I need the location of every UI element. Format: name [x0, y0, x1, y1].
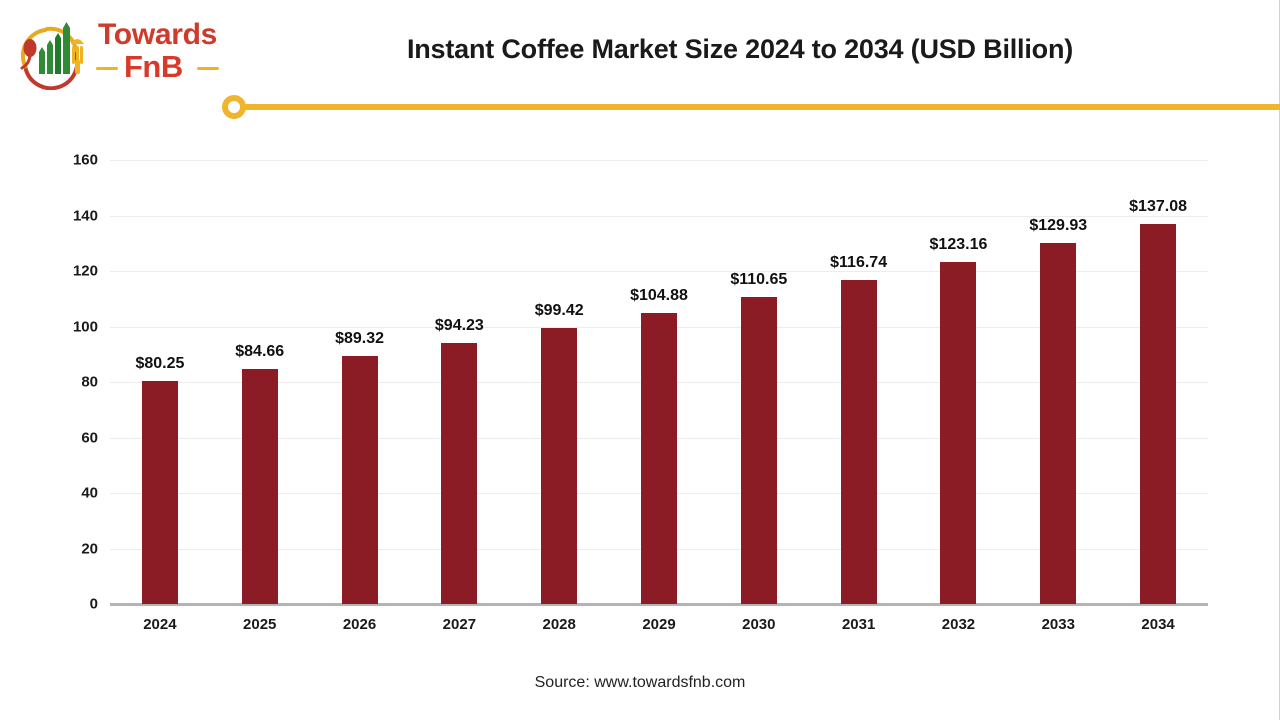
x-axis-tick-label: 2032 — [908, 616, 1008, 633]
bar-group[interactable]: $80.25 — [110, 160, 210, 604]
x-axis-tick-label: 2031 — [809, 616, 909, 633]
x-axis-tick-label: 2027 — [409, 616, 509, 633]
bar[interactable] — [242, 369, 278, 604]
chart-page: Towards FnB Instant Coffee Market Size 2… — [0, 0, 1280, 720]
bar-value-label: $110.65 — [699, 271, 819, 289]
bar-value-label: $123.16 — [898, 236, 1018, 254]
bar[interactable] — [1040, 243, 1076, 604]
y-axis-tick-label: 0 — [28, 596, 98, 613]
bar[interactable] — [342, 356, 378, 604]
bar[interactable] — [641, 313, 677, 604]
y-axis-tick-label: 60 — [28, 429, 98, 446]
x-axis-tick-label: 2028 — [509, 616, 609, 633]
y-axis-tick-label: 140 — [28, 207, 98, 224]
bar-group[interactable]: $84.66 — [210, 160, 310, 604]
bar-chart: 020406080100120140160 $80.25$84.66$89.32… — [0, 0, 1280, 720]
x-axis-tick-label: 2025 — [210, 616, 310, 633]
x-axis-tick-label: 2024 — [110, 616, 210, 633]
bar-value-label: $129.93 — [998, 217, 1118, 235]
bar[interactable] — [1140, 224, 1176, 604]
y-axis-tick-label: 80 — [28, 374, 98, 391]
bar-group[interactable]: $137.08 — [1108, 160, 1208, 604]
bar-group[interactable]: $116.74 — [809, 160, 909, 604]
bar[interactable] — [741, 297, 777, 604]
x-axis-tick-label: 2030 — [709, 616, 809, 633]
bar[interactable] — [541, 328, 577, 604]
x-axis-tick-label: 2029 — [609, 616, 709, 633]
bar[interactable] — [841, 280, 877, 604]
bar-group[interactable]: $129.93 — [1008, 160, 1108, 604]
bar-value-label: $116.74 — [799, 254, 919, 272]
bar-group[interactable]: $89.32 — [310, 160, 410, 604]
chart-bars: $80.25$84.66$89.32$94.23$99.42$104.88$11… — [110, 160, 1208, 604]
y-axis-tick-label: 40 — [28, 485, 98, 502]
bar-group[interactable]: $99.42 — [509, 160, 609, 604]
y-axis-tick-label: 100 — [28, 318, 98, 335]
bar-value-label: $104.88 — [599, 287, 719, 305]
x-axis-tick-label: 2034 — [1108, 616, 1208, 633]
bar[interactable] — [441, 343, 477, 604]
y-axis-tick-label: 120 — [28, 263, 98, 280]
x-axis-tick-label: 2026 — [310, 616, 410, 633]
bar-group[interactable]: $104.88 — [609, 160, 709, 604]
bar[interactable] — [940, 262, 976, 604]
bar[interactable] — [142, 381, 178, 604]
bar-group[interactable]: $94.23 — [409, 160, 509, 604]
bar-value-label: $137.08 — [1098, 198, 1218, 216]
source-caption: Source: www.towardsfnb.com — [0, 674, 1280, 692]
bar-group[interactable]: $110.65 — [709, 160, 809, 604]
bar-group[interactable]: $123.16 — [908, 160, 1008, 604]
y-axis-tick-label: 20 — [28, 540, 98, 557]
y-axis-tick-label: 160 — [28, 152, 98, 169]
x-axis-tick-label: 2033 — [1008, 616, 1108, 633]
